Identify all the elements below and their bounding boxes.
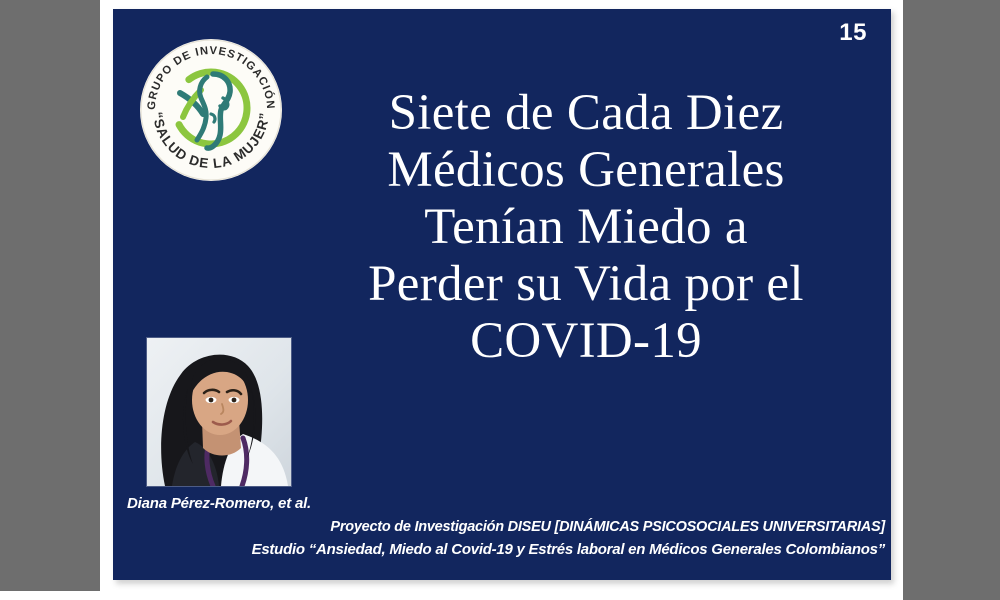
slide-stage: 15 — [0, 0, 1000, 600]
caption-author: Diana Pérez-Romero, et al. — [127, 493, 891, 516]
title-line-3: Tenían Miedo a — [293, 199, 879, 256]
slide-caption: Diana Pérez-Romero, et al. Proyecto de I… — [113, 493, 891, 561]
caption-study: Estudio “Ansiedad, Miedo al Covid-19 y E… — [113, 538, 885, 561]
title-line-4: Perder su Vida por el — [293, 256, 879, 313]
title-line-1: Siete de Cada Diez — [293, 85, 879, 142]
page-number-badge: 15 — [839, 21, 867, 45]
title-line-5: COVID-19 — [293, 313, 879, 370]
presentation-slide: 15 — [113, 9, 891, 580]
caption-project: Proyecto de Investigación DISEU [DINÁMIC… — [113, 516, 885, 538]
research-group-logo: GRUPO DE INVESTIGACIÓN “SALUD DE LA MUJE… — [137, 36, 285, 184]
slide-title: Siete de Cada Diez Médicos Generales Ten… — [293, 85, 879, 371]
backdrop-panel-left — [0, 0, 100, 591]
author-portrait — [147, 338, 291, 486]
backdrop-panel-right — [903, 0, 1000, 600]
title-line-2: Médicos Generales — [293, 142, 879, 199]
